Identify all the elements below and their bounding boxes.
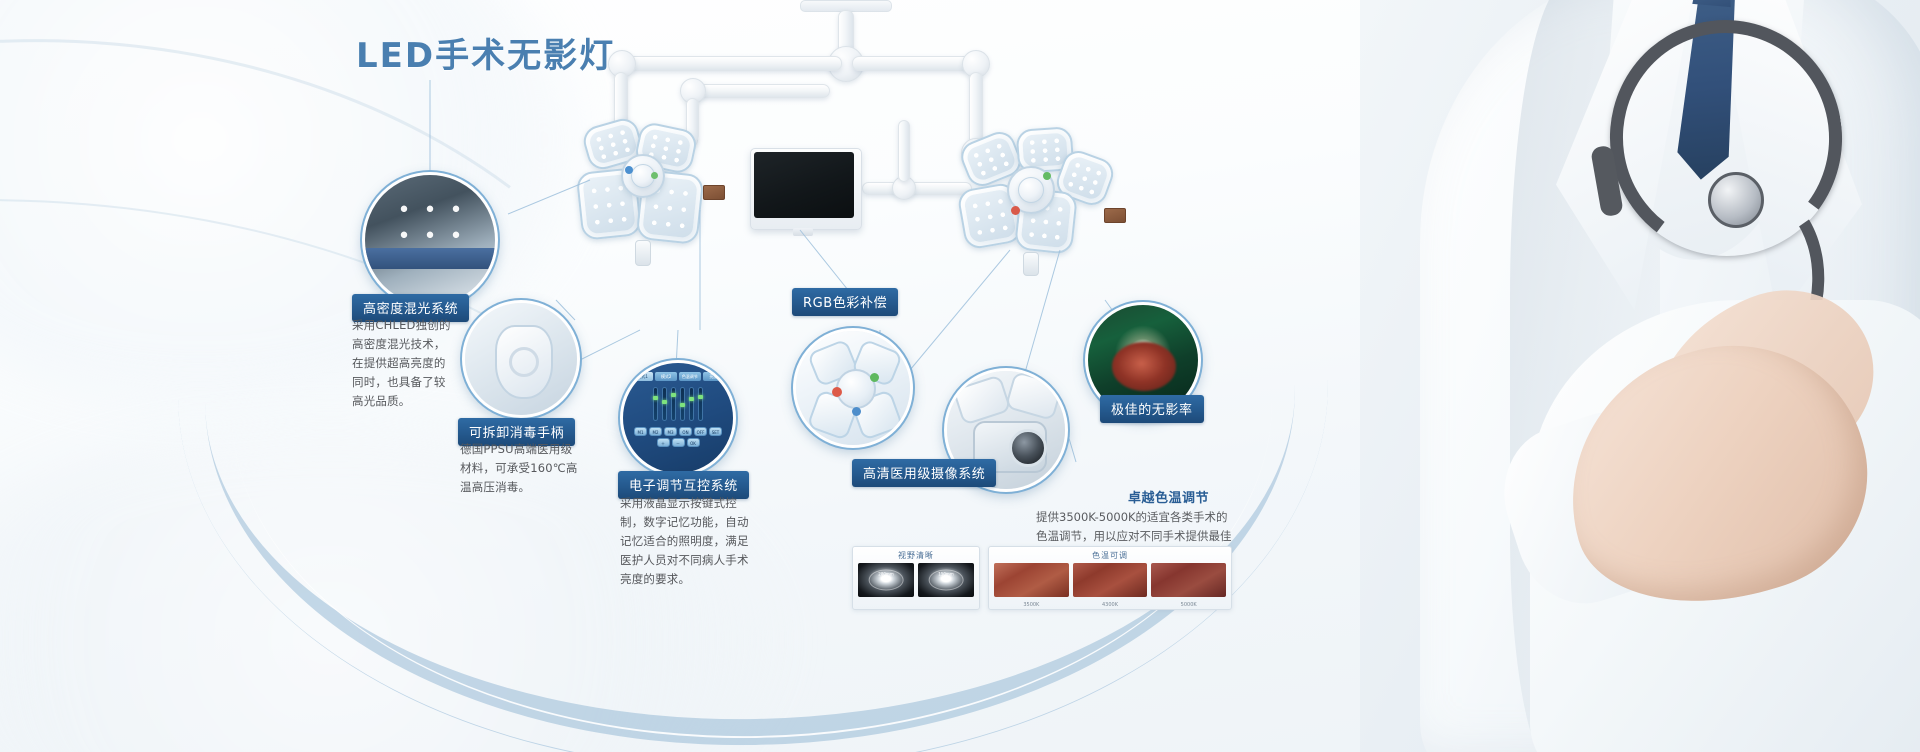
tissue-cell <box>994 563 1069 597</box>
control-panel-tabs: 模式1 模式2 色温调节 亮度 <box>632 372 724 381</box>
tag-hd-medical-camera-system[interactable]: 高清医用级摄像系统 <box>852 459 996 487</box>
feature-circle-led-board <box>362 172 498 308</box>
control-panel-ui: 模式1 模式2 色温调节 亮度 M1 M2 M3 ON OFF SET ＋ <box>632 372 724 464</box>
stethoscope-chestpiece-icon <box>1708 172 1764 228</box>
desc-detachable-sterilizable-handle: 德国PPSU高端医用级材料，可承受160℃高温高压消毒。 <box>460 440 578 497</box>
surgical-monitor-screen <box>754 152 854 218</box>
kelvin-label: 4300K <box>1073 602 1148 608</box>
lamp-hub-inner <box>1018 177 1044 203</box>
control-panel-buttons: M1 M2 M3 ON OFF SET ＋ － OK <box>632 427 724 447</box>
hub-indicator-green-icon <box>1043 172 1051 180</box>
arm-left-mid <box>690 84 830 98</box>
tissue-cell <box>1151 563 1226 597</box>
rgb-dot-blue-icon <box>852 407 861 416</box>
beam-cell-label: 150mm <box>929 569 964 590</box>
kelvin-label: 5000K <box>1151 602 1226 608</box>
lamp-head-right <box>955 128 1115 273</box>
tag-rgb-color-compensation[interactable]: RGB色彩补偿 <box>792 288 898 316</box>
arm-right-horizontal <box>852 56 974 71</box>
beam-cell-label: 280mm <box>869 569 904 590</box>
panel-button[interactable]: M1 <box>634 427 647 436</box>
strip-color-temperature: 色温可调 3500K 4300K 5000K <box>988 546 1232 610</box>
rgb-dot-green-icon <box>870 373 879 382</box>
camera-lens-icon <box>1009 429 1047 467</box>
doctor-photo <box>1360 0 1920 752</box>
panel-button[interactable]: M2 <box>649 427 662 436</box>
brightness-slider[interactable] <box>671 387 676 421</box>
panel-button[interactable]: SET <box>709 427 722 436</box>
desc-high-density-light-mixing: 采用CHLED独创的高密度混光技术，在提供超高亮度的同时，也具备了较高光品质。 <box>352 316 456 411</box>
heading-color-temperature: 卓越色温调节 <box>1128 487 1209 506</box>
strip-title-color-temperature: 色温可调 <box>989 550 1231 561</box>
lamp-handle <box>1023 252 1039 276</box>
strip-field-clarity: 视野清晰 280mm 150mm <box>852 546 980 610</box>
beam-cell: 150mm <box>918 563 974 597</box>
panel-button[interactable]: ON <box>679 427 692 436</box>
panel-button[interactable]: － <box>672 438 685 447</box>
lamp-left-camera-module <box>703 185 725 200</box>
panel-button[interactable]: OK <box>687 438 700 447</box>
feature-circle-control-panel: 模式1 模式2 色温调节 亮度 M1 M2 M3 ON OFF SET ＋ <box>620 360 736 476</box>
desc-electronic-control-system: 采用液晶显示按键式控制，数字记忆功能，自动记忆适合的照明度，满足医护人员对不同病… <box>620 494 754 589</box>
tag-excellent-shadowless-rate[interactable]: 极佳的无影率 <box>1100 395 1204 423</box>
page-title: LED手术无影灯 <box>356 28 615 77</box>
lamp-handle <box>635 240 651 266</box>
control-panel-tab[interactable]: 亮度 <box>703 372 725 381</box>
arm-left-horizontal <box>620 56 842 71</box>
control-panel-tab[interactable]: 色温调节 <box>679 372 701 381</box>
beam-cell: 280mm <box>858 563 914 597</box>
infographic-canvas: 模式1 模式2 色温调节 亮度 M1 M2 M3 ON OFF SET ＋ <box>0 0 1920 752</box>
brightness-slider[interactable] <box>653 387 658 421</box>
handle-ring-icon <box>509 347 539 377</box>
strip-clarity-cells: 280mm 150mm <box>858 563 974 597</box>
brightness-slider[interactable] <box>680 387 685 421</box>
strip-temperature-cells <box>994 563 1226 597</box>
arm-monitor-post <box>898 120 910 182</box>
control-panel-tab[interactable]: 模式2 <box>655 372 677 381</box>
lamp-right-camera-module <box>1104 208 1126 223</box>
brightness-slider[interactable] <box>689 387 694 421</box>
panel-button[interactable]: M3 <box>664 427 677 436</box>
control-panel-tab[interactable]: 模式1 <box>632 372 654 381</box>
brightness-slider[interactable] <box>698 387 703 421</box>
kelvin-label: 3500K <box>994 602 1069 608</box>
panel-button[interactable]: OFF <box>694 427 707 436</box>
hub-indicator-red-icon <box>1011 206 1020 215</box>
tissue-cell <box>1073 563 1148 597</box>
feature-circle-handle <box>462 300 580 418</box>
brightness-slider[interactable] <box>662 387 667 421</box>
hub-indicator-green-icon <box>651 172 658 179</box>
panel-button[interactable]: ＋ <box>657 438 670 447</box>
surgical-monitor-stand <box>793 228 813 236</box>
feature-circle-rgb <box>793 328 913 448</box>
control-panel-sliders <box>632 384 724 424</box>
strip-kelvin-captions: 3500K 4300K 5000K <box>994 602 1226 608</box>
hub-indicator-blue-icon <box>625 166 633 174</box>
strip-title-clarity: 视野清晰 <box>853 550 979 561</box>
rgb-dot-red-icon <box>832 387 842 397</box>
